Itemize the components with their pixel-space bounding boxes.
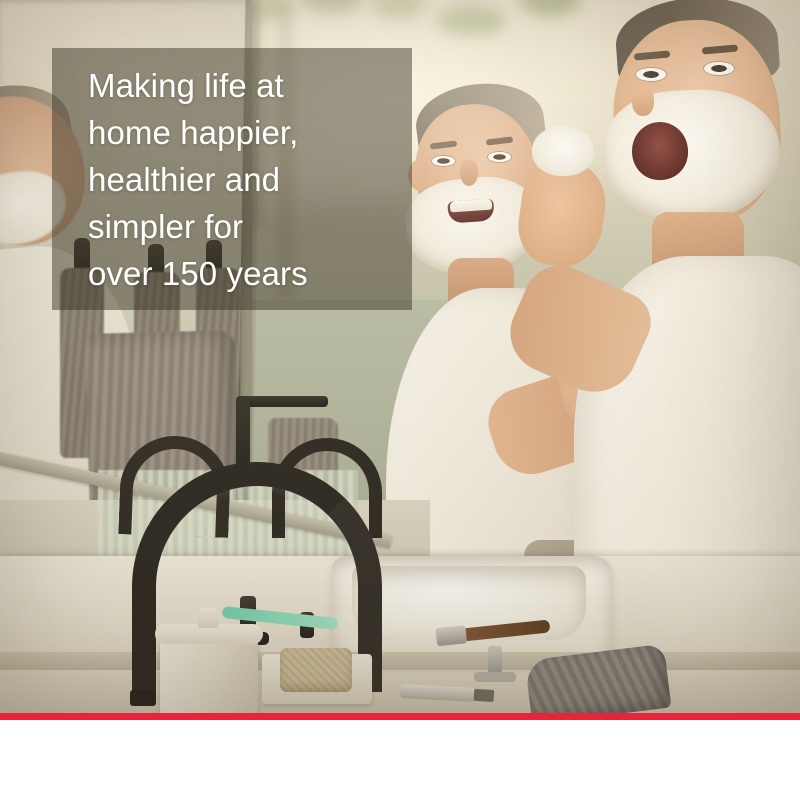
man-nose <box>460 160 478 186</box>
drain-lever <box>488 646 502 680</box>
shaving-brush <box>532 126 594 176</box>
counter-edge <box>0 652 800 670</box>
man-ear <box>408 160 428 190</box>
soap-bar <box>280 648 352 692</box>
advertisement-canvas: Making life at home happier, healthier a… <box>0 0 800 800</box>
boy-shaving-foam <box>601 85 784 226</box>
man-eye <box>432 156 455 166</box>
man-eye <box>488 152 511 162</box>
boy-nose <box>632 86 654 116</box>
footer-bar: American Standard <box>0 720 800 800</box>
jar-knob <box>198 608 218 628</box>
boy-eye <box>636 68 666 81</box>
headline-text: Making life at home happier, healthier a… <box>88 62 408 297</box>
boy-eye <box>704 62 734 75</box>
accent-red-bar <box>0 713 800 720</box>
ceramic-jar <box>160 634 258 714</box>
foliage-leaf <box>436 6 506 36</box>
